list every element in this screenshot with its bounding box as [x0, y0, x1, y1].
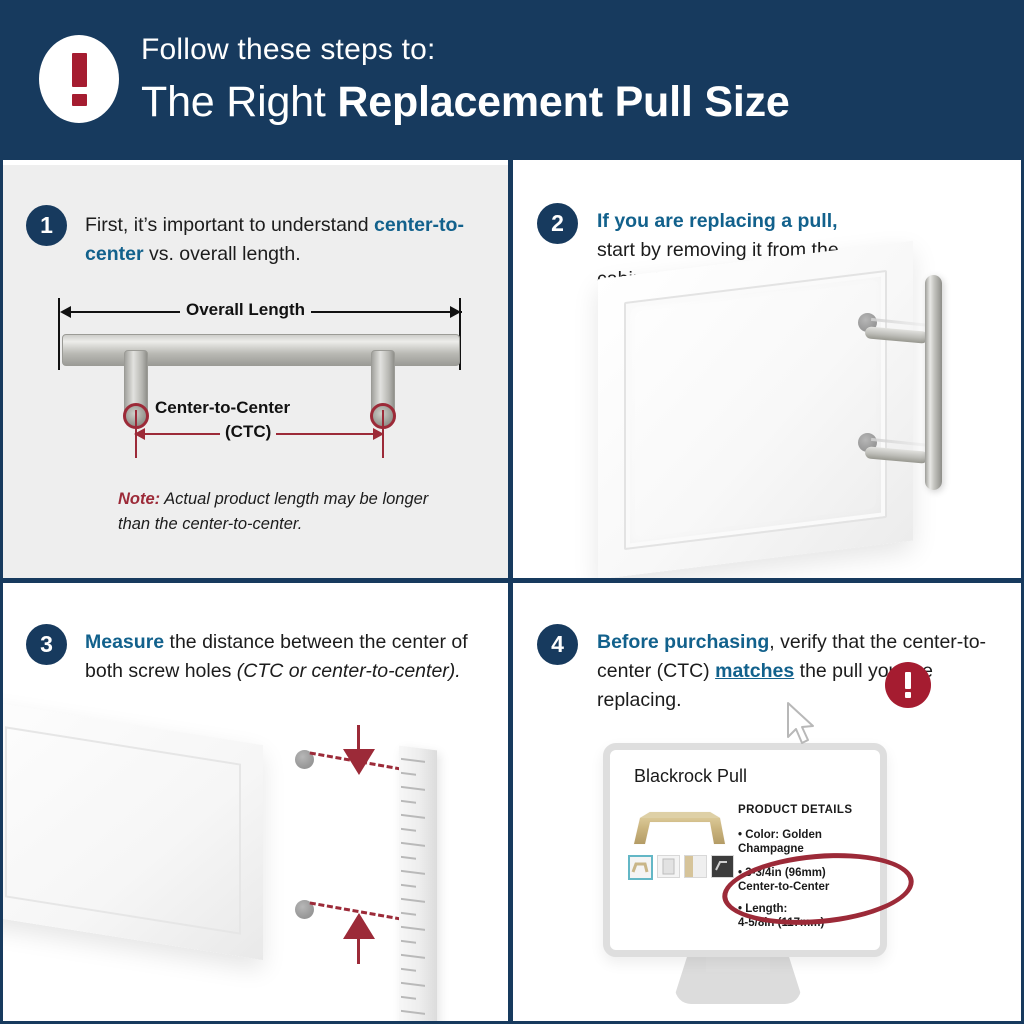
ruler-tick	[401, 968, 416, 972]
step-1-text: First, it’s important to understand cent…	[85, 211, 485, 269]
ruler-tick	[401, 954, 425, 959]
cabinet-door-edge-graphic	[3, 701, 263, 960]
ruler-graphic	[399, 746, 437, 1021]
ruler-tick	[401, 912, 416, 916]
ruler-tick	[401, 814, 425, 819]
product-bullet-color: • Color: Golden Champagne	[738, 828, 822, 856]
product-thumbnail-4[interactable]	[711, 855, 734, 878]
step-4-part-c: matches	[715, 660, 794, 682]
note-body: Actual product length may be longer than…	[118, 490, 428, 533]
ruler-tick	[401, 800, 416, 804]
step-2-badge: 2	[537, 203, 578, 244]
header-eyebrow: Follow these steps to:	[141, 33, 436, 67]
alert-exclamation-icon	[885, 662, 931, 708]
ruler-tick	[401, 842, 425, 847]
arrow-stem-down	[357, 725, 360, 751]
product-thumbnail-1[interactable]	[628, 855, 653, 880]
ctc-abbrev-label: (CTC)	[220, 422, 276, 442]
product-thumbnail-strip[interactable]	[628, 855, 734, 880]
step-4-badge: 4	[537, 624, 578, 665]
step-3-part-c: (CTC or center-to-center).	[237, 660, 461, 682]
title-bold: Replacement Pull Size	[337, 78, 789, 126]
exclamation-icon	[39, 35, 119, 123]
ruler-tick	[401, 758, 425, 763]
ctc-label: Center-to-Center	[155, 398, 290, 418]
ruler-tick	[401, 772, 416, 776]
note-prefix: Note:	[118, 490, 160, 508]
cabinet-door-edge-inner	[5, 726, 241, 934]
cabinet-door-inner-frame	[624, 270, 887, 550]
step-4-panel: 4 Before purchasing, verify that the cen…	[513, 583, 1021, 1021]
arrow-stem-up	[357, 938, 360, 964]
mouse-cursor-icon	[785, 701, 819, 747]
step-3-part-a: Measure	[85, 631, 164, 653]
ruler-tick	[401, 856, 416, 860]
pull-dimension-diagram: Overall Length Center-to-Center (CTC)	[50, 310, 470, 460]
step-1-badge: 1	[26, 205, 67, 246]
ruler-tick	[401, 982, 425, 987]
ruler-tick	[401, 884, 416, 888]
step-2-part-a: If you are replacing a pull,	[597, 210, 838, 232]
ruler-tick	[401, 940, 416, 944]
step-2-panel: 2 If you are replacing a pull, start by …	[513, 165, 1021, 578]
step-1-panel: 1 First, it’s important to understand ce…	[3, 165, 508, 578]
product-details-heading: PRODUCT DETAILS	[738, 804, 852, 816]
overall-arrow-left-icon	[60, 306, 71, 318]
product-thumbnail-2[interactable]	[657, 855, 680, 878]
ruler-tick	[401, 786, 425, 791]
measure-arrow-down-icon	[343, 749, 375, 775]
ruler-tick	[401, 996, 416, 1000]
ruler-tick	[401, 828, 416, 832]
ruler-tick	[401, 898, 425, 903]
step-3-text: Measure the distance between the center …	[85, 628, 485, 686]
measure-arrow-up-icon	[343, 913, 375, 939]
overall-length-label: Overall Length	[180, 300, 311, 320]
step-3-panel: 3 Measure the distance between the cente…	[3, 583, 508, 1021]
ctc-arrow-right-icon	[373, 428, 384, 440]
product-image-pull	[626, 802, 731, 848]
ruler-tick	[401, 1010, 425, 1015]
overall-arrow-right-icon	[450, 306, 461, 318]
pull-bar-graphic	[62, 334, 460, 366]
infographic-page: Follow these steps to: The Right Replace…	[0, 0, 1024, 1024]
ctc-arrow-left-icon	[134, 428, 145, 440]
title-light: The Right	[141, 78, 337, 126]
header-banner: Follow these steps to: The Right Replace…	[0, 0, 1024, 160]
ruler-tick	[401, 870, 425, 875]
step-1-part-a: First, it’s important to understand	[85, 214, 374, 236]
step-4-part-a: Before purchasing	[597, 631, 769, 653]
product-title: Blackrock Pull	[634, 766, 747, 787]
step-1-part-c: vs. overall length.	[144, 243, 301, 265]
monitor-screen: Blackrock Pull	[603, 743, 887, 957]
ruler-tick	[401, 926, 425, 931]
bar-pull-graphic	[925, 275, 942, 490]
note-text: Note: Actual product length may be longe…	[118, 487, 448, 537]
step-3-badge: 3	[26, 624, 67, 665]
cabinet-door-graphic	[598, 241, 913, 578]
product-thumbnail-3[interactable]	[684, 855, 707, 878]
page-title: The Right Replacement Pull Size	[141, 78, 790, 127]
